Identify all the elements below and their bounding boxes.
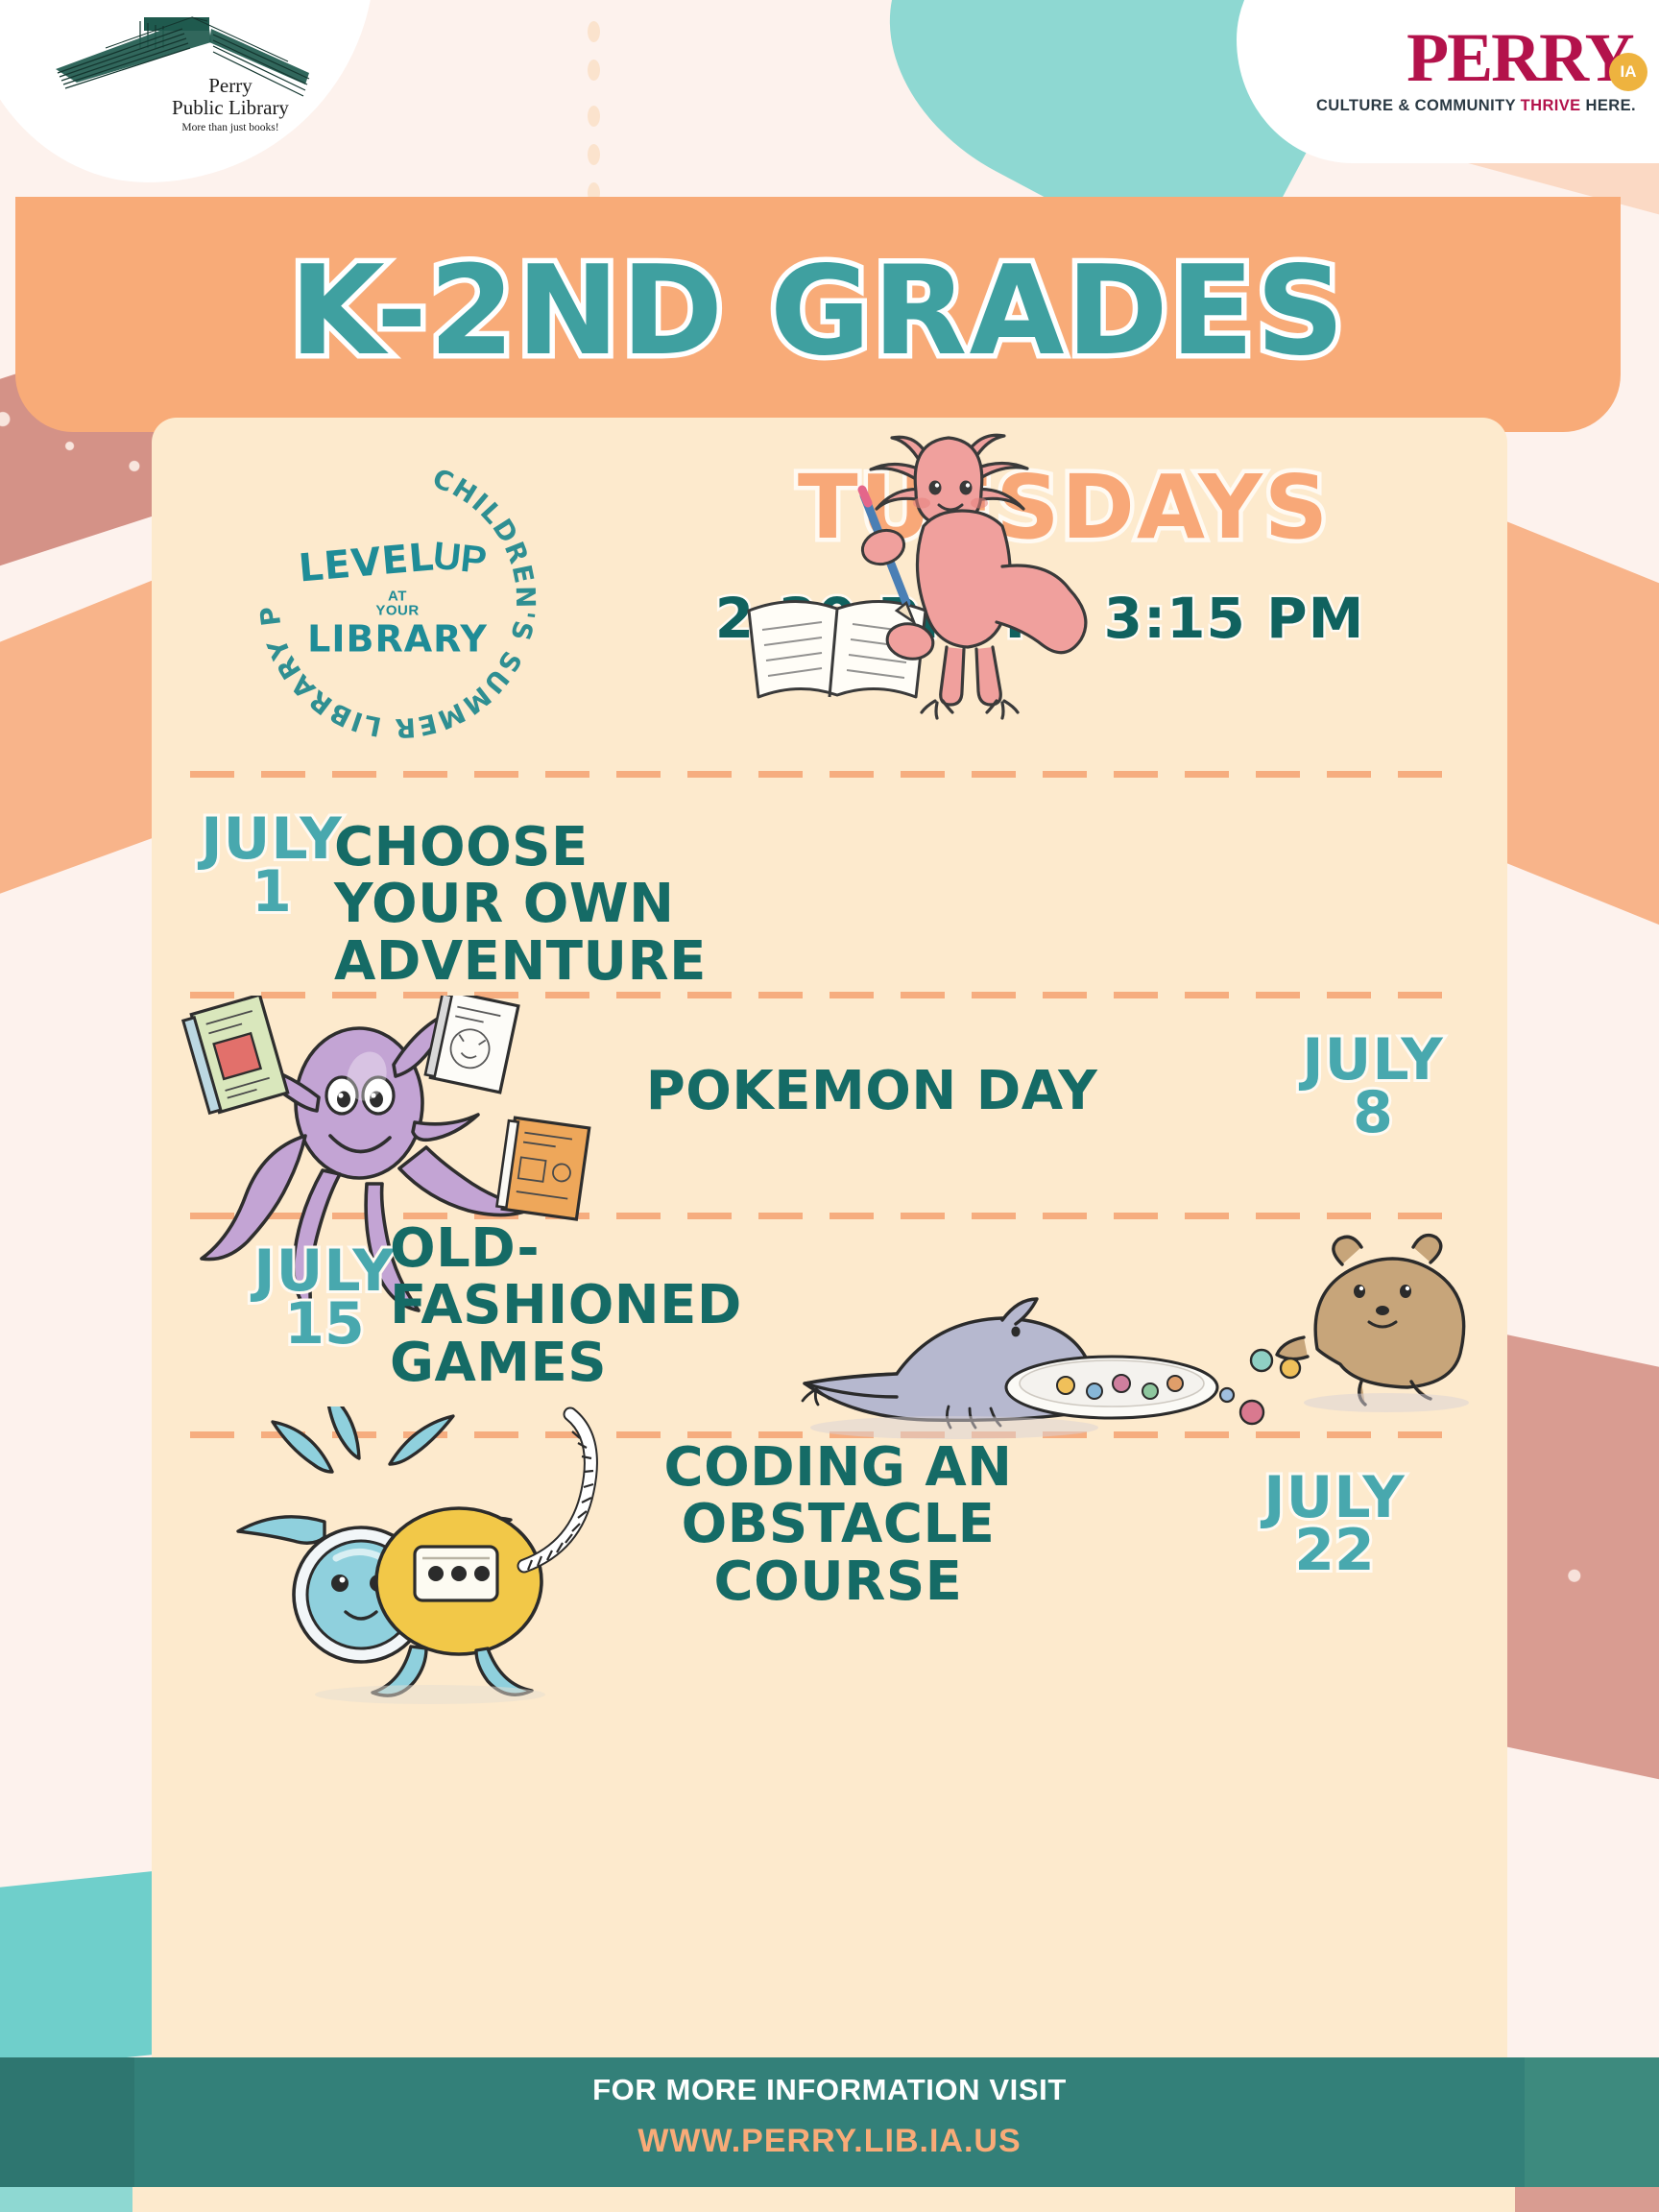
footer-right-accent <box>1525 2057 1659 2187</box>
aardvark-and-marbles-icon <box>728 1214 1486 1445</box>
bottom-strip-right-accent <box>1515 2187 1659 2212</box>
footer-line1: FOR MORE INFORMATION VISIT <box>0 2073 1659 2107</box>
badge-your-text: YOUR <box>297 604 498 618</box>
bottom-strip-left-accent <box>0 2187 132 2212</box>
footer: FOR MORE INFORMATION VISIT WWW.PERRY.LIB… <box>0 2057 1659 2187</box>
city-logo-tagline: CULTURE & COMMUNITY THRIVE HERE. <box>1258 97 1636 115</box>
event-day: 8 <box>1248 1087 1498 1140</box>
badge-level-text: LEVEL <box>298 539 436 587</box>
library-logo: Perry Public Library More than just book… <box>48 10 317 154</box>
library-name-line2: Public Library <box>154 97 307 119</box>
tagline-part1: CULTURE & COMMUNITY <box>1316 97 1521 114</box>
page-title: K-2ND GRADES <box>290 240 1347 383</box>
event-title: CODING AN OBSTACLE COURSE <box>613 1439 1064 1610</box>
badge-at-text: AT <box>297 589 498 604</box>
event-title: CHOOSE YOUR OWN ADVENTURE <box>334 819 757 990</box>
axolotl-writing-icon <box>718 413 1121 778</box>
badge-up-text: UP <box>431 535 489 584</box>
tagline-highlight: THRIVE <box>1521 97 1581 114</box>
event-date: JULY 8 <box>1248 1034 1498 1140</box>
bg-dot-column <box>588 0 609 230</box>
header-banner: K-2ND GRADES <box>15 197 1621 432</box>
schedule-card: CHILDREN'S SUMMER LIBRARY PROGRAM * LEVE… <box>152 418 1507 2059</box>
level-up-program-badge: CHILDREN'S SUMMER LIBRARY PROGRAM * LEVE… <box>244 446 551 754</box>
perry-state-badge: IA <box>1609 53 1647 91</box>
city-of-perry-logo: PERRY. IA CULTURE & COMMUNITY THRIVE HER… <box>1258 27 1642 115</box>
bottom-strip <box>0 2187 1659 2212</box>
axolotl-astronaut-robot-icon <box>171 1407 622 1714</box>
perry-wordmark: PERRY. IA <box>1407 27 1642 89</box>
event-title: OLD-FASHIONED GAMES <box>390 1220 726 1391</box>
event-title: POKEMON DAY <box>632 1063 1112 1119</box>
event-date: JULY 22 <box>1200 1472 1469 1577</box>
footer-left-accent <box>0 2057 134 2187</box>
badge-library-text: LIBRARY <box>297 621 498 658</box>
perry-wordmark-text: PERRY <box>1407 19 1626 96</box>
badge-center-text: LEVEL UP AT YOUR LIBRARY <box>297 543 498 658</box>
tagline-part2: HERE. <box>1581 97 1636 114</box>
library-name-line1: Perry <box>154 75 307 97</box>
event-day: 22 <box>1200 1525 1469 1577</box>
library-tagline: More than just books! <box>154 122 307 133</box>
footer-website[interactable]: WWW.PERRY.LIB.IA.US <box>0 2123 1659 2160</box>
